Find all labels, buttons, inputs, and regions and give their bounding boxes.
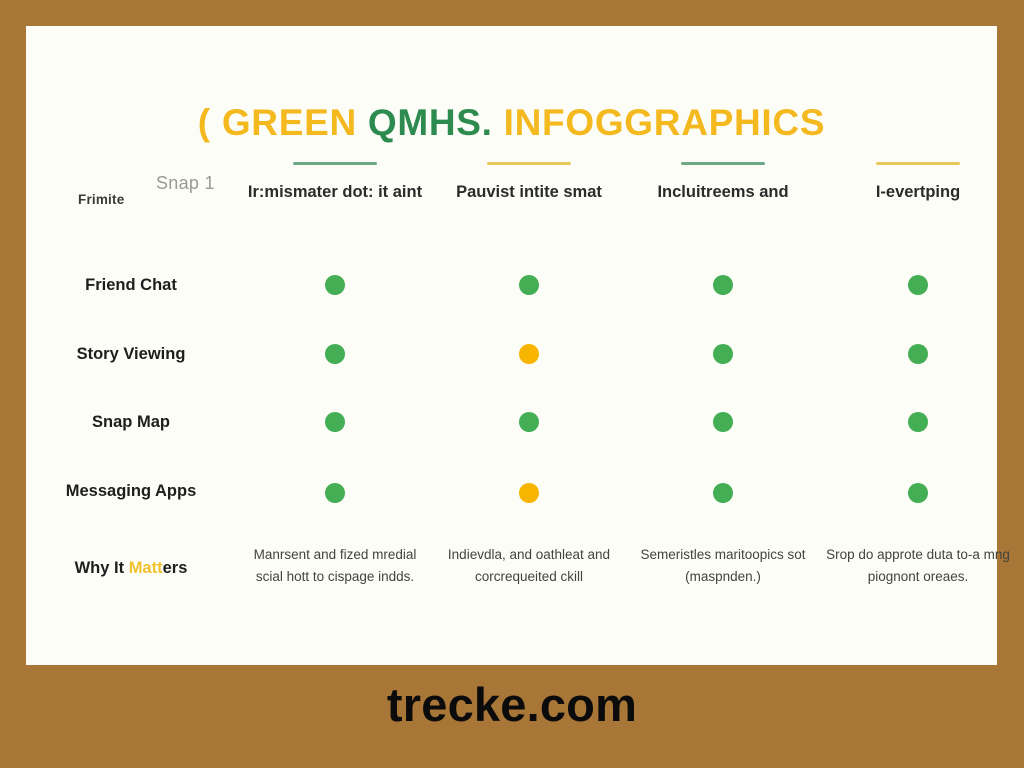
infographic-card: ( GREEN QMHS. INFOGGRAPHICS Snap 1 Frimi… bbox=[26, 26, 997, 665]
column-accent-rule-3 bbox=[681, 162, 765, 165]
cell-dot-r1c3 bbox=[713, 275, 733, 295]
row-label-friend-chat: Friend Chat bbox=[26, 276, 236, 295]
cell-dot-r1c1 bbox=[325, 275, 345, 295]
column-note-3: Semeristles maritoopics sot (maspnden.) bbox=[628, 544, 818, 588]
corner-main-label: Frimite bbox=[78, 192, 124, 207]
column-header-1: Ir:mismater dot: it aint bbox=[247, 162, 423, 205]
why-it-matters-highlight: Matt bbox=[129, 559, 163, 577]
row-label-story-viewing: Story Viewing bbox=[26, 345, 236, 364]
column-header-2: Pauvist intite smat bbox=[441, 162, 617, 205]
column-accent-rule-4 bbox=[876, 162, 960, 165]
cell-dot-r1c4 bbox=[908, 275, 928, 295]
row-label-why-it-matters: Why It Matters bbox=[26, 559, 236, 578]
footer-brand: trecke.com bbox=[0, 681, 1024, 728]
cell-dot-r3c4 bbox=[908, 412, 928, 432]
cell-dot-r2c4 bbox=[908, 344, 928, 364]
column-note-4: Srop do approte duta to-a mng piognont o… bbox=[823, 544, 1013, 588]
cell-dot-r2c2 bbox=[519, 344, 539, 364]
cell-dot-r2c3 bbox=[713, 344, 733, 364]
column-title-2: Pauvist intite smat bbox=[441, 181, 617, 205]
cell-dot-r1c2 bbox=[519, 275, 539, 295]
column-accent-rule-2 bbox=[487, 162, 571, 165]
column-note-1: Manrsent and fized mredial scial hott to… bbox=[240, 544, 430, 588]
why-it-matters-tail: ers bbox=[163, 559, 188, 577]
cell-dot-r4c3 bbox=[713, 483, 733, 503]
comparison-grid: Snap 1 Frimite Ir:mismater dot: it aint … bbox=[26, 26, 997, 665]
cell-dot-r2c1 bbox=[325, 344, 345, 364]
cell-dot-r3c2 bbox=[519, 412, 539, 432]
column-title-1: Ir:mismater dot: it aint bbox=[247, 181, 423, 205]
cell-dot-r4c4 bbox=[908, 483, 928, 503]
column-accent-rule-1 bbox=[293, 162, 377, 165]
column-header-3: Incluitreems and bbox=[635, 162, 811, 205]
column-title-4: I-evertping bbox=[830, 181, 1006, 205]
corner-sub-label: Snap 1 bbox=[156, 173, 215, 194]
why-it-matters-lead: Why It bbox=[75, 559, 129, 577]
column-title-3: Incluitreems and bbox=[635, 181, 811, 205]
row-label-snap-map: Snap Map bbox=[26, 413, 236, 432]
column-header-4: I-evertping bbox=[830, 162, 1006, 205]
row-label-messaging-apps: Messaging Apps bbox=[26, 482, 236, 501]
infographic-poster: ( GREEN QMHS. INFOGGRAPHICS Snap 1 Frimi… bbox=[0, 0, 1024, 768]
cell-dot-r4c1 bbox=[325, 483, 345, 503]
column-note-2: Indievdla, and oathleat and corcrequeite… bbox=[434, 544, 624, 588]
cell-dot-r3c3 bbox=[713, 412, 733, 432]
cell-dot-r4c2 bbox=[519, 483, 539, 503]
cell-dot-r3c1 bbox=[325, 412, 345, 432]
